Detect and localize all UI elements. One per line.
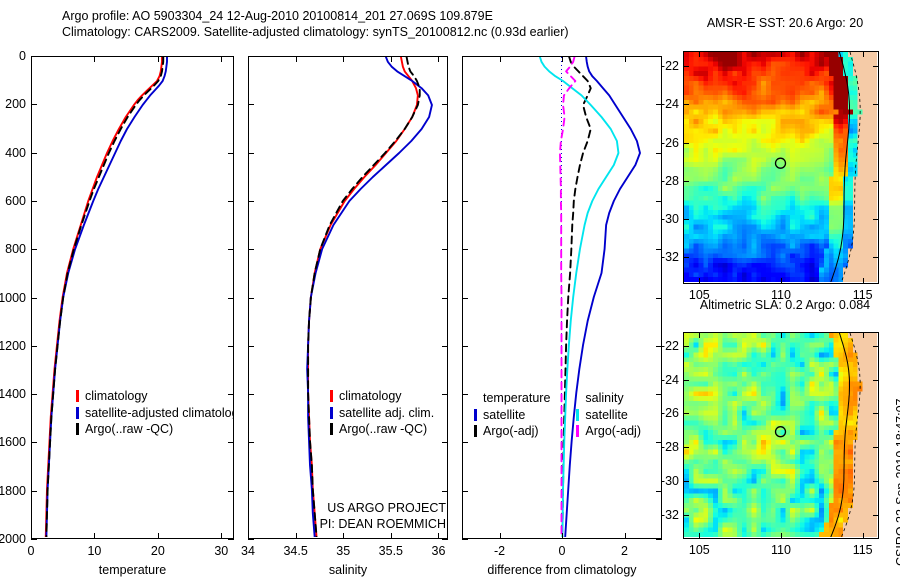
x-tick-label: 2 bbox=[621, 544, 628, 558]
map-y-tickmark bbox=[683, 346, 689, 347]
salinity-profile-plot bbox=[249, 57, 446, 537]
y-tick-label: 2000 bbox=[0, 532, 26, 546]
sst-map-image bbox=[684, 52, 877, 282]
sla-map-image bbox=[684, 333, 877, 537]
legend-color-swatch bbox=[76, 390, 79, 402]
map-y-tick-label: -32 bbox=[653, 250, 679, 264]
temperature-xaxis-label: temperature bbox=[31, 563, 234, 577]
legend-label: climatology bbox=[339, 388, 402, 405]
y-tickmark bbox=[31, 539, 37, 540]
map-x-tick-label: 105 bbox=[689, 543, 710, 557]
y-tick-label: 800 bbox=[0, 242, 26, 256]
x-tick-label: 0 bbox=[559, 544, 566, 558]
y-tickmark bbox=[31, 442, 37, 443]
y-tickmark bbox=[442, 346, 448, 347]
map-y-tickmark bbox=[873, 346, 879, 347]
x-tick-label: 20 bbox=[151, 544, 165, 558]
difference-profile-plot bbox=[463, 57, 660, 537]
map-y-tickmark bbox=[873, 143, 879, 144]
map-y-tick-label: -28 bbox=[653, 440, 679, 454]
y-tickmark bbox=[31, 201, 37, 202]
x-tick-label: 0 bbox=[28, 544, 35, 558]
legend-color-swatch bbox=[330, 390, 333, 402]
y-tickmark bbox=[442, 249, 448, 250]
legend-label: satellite-adjusted climatology bbox=[85, 405, 234, 422]
map-y-tickmark bbox=[873, 481, 879, 482]
y-tick-label: 1800 bbox=[0, 484, 26, 498]
legend-label: satellite bbox=[585, 407, 627, 424]
x-tick-label: 35.5 bbox=[379, 544, 403, 558]
y-tickmark bbox=[462, 153, 468, 154]
y-tickmark bbox=[228, 249, 234, 250]
y-tickmark bbox=[228, 153, 234, 154]
figure-title-line2: Climatology: CARS2009. Satellite-adjuste… bbox=[62, 24, 662, 40]
y-tickmark bbox=[248, 298, 254, 299]
map-y-tickmark bbox=[683, 181, 689, 182]
y-tickmark bbox=[228, 104, 234, 105]
y-tick-label: 1000 bbox=[0, 291, 26, 305]
y-tickmark bbox=[462, 394, 468, 395]
legend-label: Argo(..raw -QC) bbox=[339, 421, 427, 438]
y-tickmark bbox=[442, 491, 448, 492]
legend-column-header: salinity bbox=[585, 390, 641, 407]
legend-color-swatch bbox=[330, 407, 333, 419]
map-y-tick-label: -22 bbox=[653, 59, 679, 73]
y-tickmark bbox=[656, 56, 662, 57]
y-tickmark bbox=[31, 346, 37, 347]
legend-item: climatology bbox=[76, 388, 234, 405]
map-y-tickmark bbox=[683, 104, 689, 105]
map-y-tickmark bbox=[683, 257, 689, 258]
y-tickmark bbox=[656, 539, 662, 540]
figure-title: Argo profile: AO 5903304_24 12-Aug-2010 … bbox=[62, 8, 662, 40]
map-x-tickmark bbox=[699, 278, 700, 284]
x-tickmark bbox=[391, 56, 392, 62]
legend-color-swatch bbox=[576, 409, 579, 421]
x-tickmark bbox=[562, 533, 563, 539]
legend-column: salinitysatelliteArgo(-adj) bbox=[576, 390, 641, 440]
y-tick-label: 600 bbox=[0, 194, 26, 208]
map-y-tickmark bbox=[683, 380, 689, 381]
legend-label: climatology bbox=[85, 388, 148, 405]
x-tickmark bbox=[296, 56, 297, 62]
map-y-tickmark bbox=[873, 515, 879, 516]
legend-color-swatch bbox=[576, 425, 579, 437]
y-tick-label: 1400 bbox=[0, 387, 26, 401]
y-tickmark bbox=[656, 153, 662, 154]
legend-item: satellite bbox=[576, 407, 641, 424]
credit-line1: US ARGO PROJECT bbox=[248, 500, 446, 516]
legend-label: satellite bbox=[483, 407, 525, 424]
map-y-tickmark bbox=[873, 380, 879, 381]
y-tickmark bbox=[248, 442, 254, 443]
x-tickmark bbox=[625, 56, 626, 62]
map-y-tickmark bbox=[873, 413, 879, 414]
legend-item: satellite bbox=[474, 407, 550, 424]
y-tickmark bbox=[462, 346, 468, 347]
legend-item: Argo(-adj) bbox=[474, 423, 550, 440]
y-tickmark bbox=[442, 298, 448, 299]
map-y-tickmark bbox=[683, 219, 689, 220]
y-tickmark bbox=[656, 201, 662, 202]
temperature-legend: climatologysatellite-adjusted climatolog… bbox=[76, 388, 234, 438]
x-tickmark bbox=[625, 533, 626, 539]
y-tickmark bbox=[248, 201, 254, 202]
y-tickmark bbox=[442, 104, 448, 105]
map-y-tickmark bbox=[683, 143, 689, 144]
map-x-tickmark bbox=[699, 51, 700, 57]
x-tick-label: 30 bbox=[214, 544, 228, 558]
legend-color-swatch bbox=[474, 409, 477, 421]
map-x-tickmark bbox=[863, 332, 864, 338]
y-tickmark bbox=[248, 153, 254, 154]
map-x-tickmark bbox=[863, 278, 864, 284]
map-y-tick-label: -26 bbox=[653, 406, 679, 420]
x-tickmark bbox=[500, 56, 501, 62]
legend-label: satellite adj. clim. bbox=[339, 405, 434, 422]
map-y-tickmark bbox=[683, 447, 689, 448]
csiro-timestamp: CSIRO 22-Sep-2010 18:47:07 bbox=[894, 399, 900, 566]
map-x-tick-label: 110 bbox=[771, 543, 791, 557]
map-x-tickmark bbox=[781, 533, 782, 539]
difference-profile-panel bbox=[462, 56, 662, 539]
sla-map-panel bbox=[683, 332, 879, 539]
y-tickmark bbox=[31, 249, 37, 250]
map-y-tick-label: -28 bbox=[653, 174, 679, 188]
y-tickmark bbox=[31, 298, 37, 299]
y-tickmark bbox=[462, 298, 468, 299]
map-x-tickmark bbox=[863, 533, 864, 539]
legend-item: satellite-adjusted climatology bbox=[76, 405, 234, 422]
x-tick-label: 35 bbox=[336, 544, 350, 558]
map-x-tickmark bbox=[863, 51, 864, 57]
y-tickmark bbox=[462, 56, 468, 57]
y-tickmark bbox=[442, 394, 448, 395]
x-tick-label: 34 bbox=[241, 544, 255, 558]
y-tickmark bbox=[228, 539, 234, 540]
y-tickmark bbox=[31, 56, 37, 57]
y-tickmark bbox=[248, 346, 254, 347]
y-tick-label: 0 bbox=[0, 49, 26, 63]
x-tickmark bbox=[158, 56, 159, 62]
x-tick-label: 10 bbox=[87, 544, 101, 558]
map-x-tickmark bbox=[781, 278, 782, 284]
x-tickmark bbox=[438, 56, 439, 62]
y-tickmark bbox=[442, 442, 448, 443]
x-tickmark bbox=[343, 56, 344, 62]
legend-item: satellite adj. clim. bbox=[330, 405, 434, 422]
credit-line2: PI: DEAN ROEMMICH bbox=[248, 516, 446, 532]
legend-color-swatch bbox=[330, 423, 333, 435]
x-tickmark bbox=[94, 56, 95, 62]
map-y-tickmark bbox=[873, 181, 879, 182]
y-tickmark bbox=[442, 153, 448, 154]
map-y-tick-label: -30 bbox=[653, 474, 679, 488]
map-y-tickmark bbox=[873, 219, 879, 220]
y-tickmark bbox=[442, 539, 448, 540]
map-y-tickmark bbox=[683, 515, 689, 516]
x-tickmark bbox=[221, 533, 222, 539]
y-tickmark bbox=[462, 104, 468, 105]
x-tickmark bbox=[296, 533, 297, 539]
project-credit: US ARGO PROJECT PI: DEAN ROEMMICH bbox=[248, 500, 446, 532]
sla-map-title: Altimetric SLA: 0.2 Argo: 0.084 bbox=[680, 298, 890, 312]
y-tickmark bbox=[228, 298, 234, 299]
difference-legend: temperaturesatelliteArgo(-adj)salinitysa… bbox=[474, 390, 641, 440]
legend-label: Argo(..raw -QC) bbox=[85, 421, 173, 438]
y-tickmark bbox=[442, 56, 448, 57]
x-tick-label: 34.5 bbox=[283, 544, 307, 558]
y-tickmark bbox=[228, 346, 234, 347]
legend-item: Argo(-adj) bbox=[576, 423, 641, 440]
y-tickmark bbox=[248, 104, 254, 105]
y-tickmark bbox=[248, 539, 254, 540]
map-y-tick-label: -24 bbox=[653, 373, 679, 387]
x-tickmark bbox=[221, 56, 222, 62]
map-y-tickmark bbox=[873, 257, 879, 258]
x-tick-label: -2 bbox=[494, 544, 505, 558]
map-y-tick-label: -30 bbox=[653, 212, 679, 226]
map-y-tickmark bbox=[873, 104, 879, 105]
map-y-tick-label: -32 bbox=[653, 508, 679, 522]
x-tickmark bbox=[343, 533, 344, 539]
y-tick-label: 400 bbox=[0, 146, 26, 160]
y-tickmark bbox=[228, 201, 234, 202]
y-tick-label: 1200 bbox=[0, 339, 26, 353]
figure-title-line1: Argo profile: AO 5903304_24 12-Aug-2010 … bbox=[62, 8, 662, 24]
legend-column: temperaturesatelliteArgo(-adj) bbox=[474, 390, 550, 440]
y-tick-label: 1600 bbox=[0, 435, 26, 449]
temperature-profile-plot bbox=[32, 57, 232, 537]
map-y-tickmark bbox=[873, 66, 879, 67]
map-x-tickmark bbox=[781, 51, 782, 57]
legend-label: Argo(-adj) bbox=[483, 423, 539, 440]
y-tickmark bbox=[31, 153, 37, 154]
x-tickmark bbox=[438, 533, 439, 539]
x-tickmark bbox=[391, 533, 392, 539]
legend-item: Argo(..raw -QC) bbox=[76, 421, 234, 438]
map-y-tick-label: -24 bbox=[653, 97, 679, 111]
y-tickmark bbox=[228, 491, 234, 492]
y-tickmark bbox=[31, 104, 37, 105]
legend-color-swatch bbox=[76, 407, 79, 419]
y-tickmark bbox=[442, 201, 448, 202]
salinity-xaxis-label: salinity bbox=[248, 563, 448, 577]
legend-item: climatology bbox=[330, 388, 434, 405]
y-tickmark bbox=[656, 298, 662, 299]
map-y-tickmark bbox=[683, 413, 689, 414]
map-x-tickmark bbox=[781, 332, 782, 338]
difference-xaxis-label: difference from climatology bbox=[462, 563, 662, 577]
y-tickmark bbox=[656, 394, 662, 395]
map-x-tick-label: 115 bbox=[853, 543, 873, 557]
y-tickmark bbox=[228, 442, 234, 443]
y-tickmark bbox=[462, 249, 468, 250]
legend-column-header: temperature bbox=[483, 390, 550, 407]
sst-map-title: AMSR-E SST: 20.6 Argo: 20 bbox=[680, 16, 890, 30]
y-tick-label: 200 bbox=[0, 97, 26, 111]
x-tickmark bbox=[158, 533, 159, 539]
map-y-tickmark bbox=[683, 66, 689, 67]
map-y-tick-label: -26 bbox=[653, 136, 679, 150]
x-tick-label: 36 bbox=[432, 544, 446, 558]
y-tickmark bbox=[462, 491, 468, 492]
y-tickmark bbox=[462, 442, 468, 443]
y-tickmark bbox=[248, 249, 254, 250]
map-x-tickmark bbox=[699, 533, 700, 539]
y-tickmark bbox=[462, 539, 468, 540]
y-tickmark bbox=[228, 56, 234, 57]
y-tickmark bbox=[31, 394, 37, 395]
map-x-tickmark bbox=[699, 332, 700, 338]
x-tickmark bbox=[94, 533, 95, 539]
salinity-profile-panel bbox=[248, 56, 448, 539]
map-y-tickmark bbox=[873, 447, 879, 448]
y-tickmark bbox=[248, 491, 254, 492]
legend-item: Argo(..raw -QC) bbox=[330, 421, 434, 438]
legend-color-swatch bbox=[76, 423, 79, 435]
y-tickmark bbox=[248, 394, 254, 395]
temperature-profile-panel bbox=[31, 56, 234, 539]
sst-map-panel bbox=[683, 51, 879, 284]
map-y-tick-label: -22 bbox=[653, 339, 679, 353]
y-tickmark bbox=[31, 491, 37, 492]
salinity-legend: climatologysatellite adj. clim.Argo(..ra… bbox=[330, 388, 434, 438]
y-tickmark bbox=[248, 56, 254, 57]
y-tickmark bbox=[656, 491, 662, 492]
map-y-tickmark bbox=[683, 481, 689, 482]
legend-color-swatch bbox=[474, 425, 477, 437]
y-tickmark bbox=[462, 201, 468, 202]
x-tickmark bbox=[562, 56, 563, 62]
legend-label: Argo(-adj) bbox=[585, 423, 641, 440]
x-tickmark bbox=[500, 533, 501, 539]
